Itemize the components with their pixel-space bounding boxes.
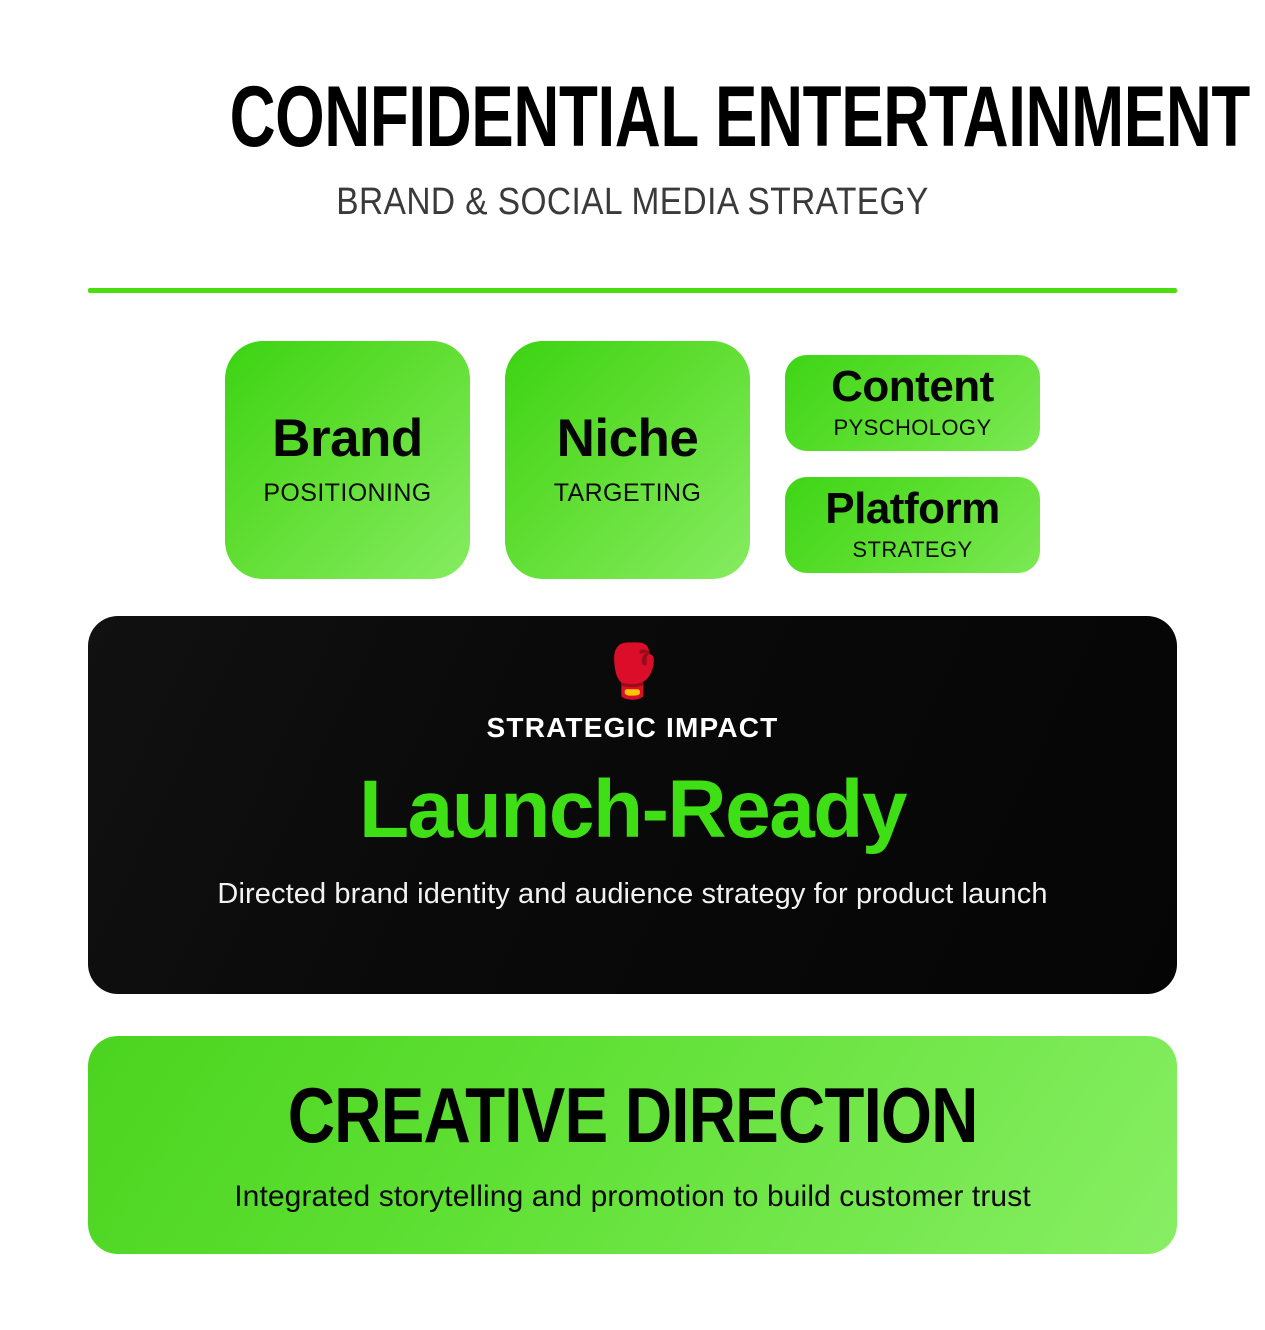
pillar-card-subtitle: STRATEGY [852,537,972,563]
pillar-card-subtitle: TARGETING [554,479,702,508]
header-divider [88,288,1177,293]
page-title: CONFIDENTIAL ENTERTAINMENT [230,78,1036,157]
strategic-impact-label: STRATEGIC IMPACT [487,712,779,744]
creative-direction-banner: CREATIVE DIRECTION Integrated storytelli… [88,1036,1177,1254]
strategic-impact-panel: 🥊 STRATEGIC IMPACT Launch-Ready Directed… [88,616,1177,994]
strategic-impact-description: Directed brand identity and audience str… [217,878,1047,911]
strategic-impact-headline: Launch-Ready [359,768,906,852]
pillar-card-subtitle: POSITIONING [263,479,431,508]
pillar-card-title: Niche [557,412,699,465]
pillar-card-niche[interactable]: Niche TARGETING [505,341,750,579]
header: CONFIDENTIAL ENTERTAINMENT BRAND & SOCIA… [88,78,1177,224]
pillar-card-title: Platform [825,487,999,531]
pillar-card-subtitle: PYSCHOLOGY [833,415,991,441]
pillar-card-content[interactable]: Content PYSCHOLOGY [785,355,1040,451]
boxing-glove-icon: 🥊 [600,644,665,700]
pillar-card-platform[interactable]: Platform STRATEGY [785,477,1040,573]
pillar-card-brand[interactable]: Brand POSITIONING [225,341,470,579]
pillar-card-group: Brand POSITIONING Niche TARGETING Conten… [0,341,1265,581]
creative-direction-description: Integrated storytelling and promotion to… [234,1180,1031,1214]
infographic-page: CONFIDENTIAL ENTERTAINMENT BRAND & SOCIA… [0,0,1265,1330]
pillar-card-title: Brand [272,412,423,465]
pillar-card-title: Content [831,365,994,409]
page-subtitle: BRAND & SOCIAL MEDIA STRATEGY [153,157,1111,224]
creative-direction-title: CREATIVE DIRECTION [288,1076,978,1154]
